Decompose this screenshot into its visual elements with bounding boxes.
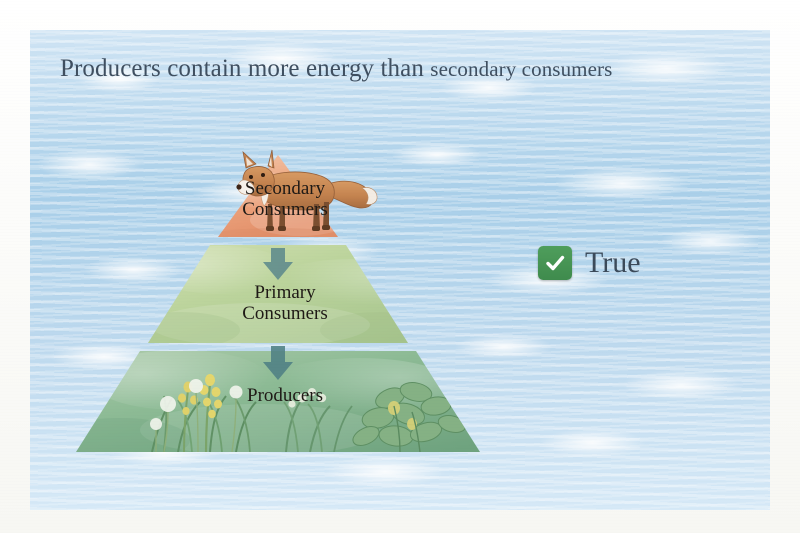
checkmark-icon: [544, 252, 566, 274]
energy-pyramid: Secondary Consumers Primary Consumers Pr…: [60, 140, 500, 470]
page-title: Producers contain more energy than secon…: [60, 55, 750, 83]
answer-label: True: [585, 246, 641, 280]
checkbox-checked[interactable]: [538, 246, 572, 280]
slide-canvas: Producers contain more energy than secon…: [0, 0, 800, 533]
title-tail: secondary consumers: [430, 57, 612, 81]
answer-true[interactable]: True: [538, 246, 641, 280]
title-lead: Producers contain more energy than: [60, 55, 430, 82]
